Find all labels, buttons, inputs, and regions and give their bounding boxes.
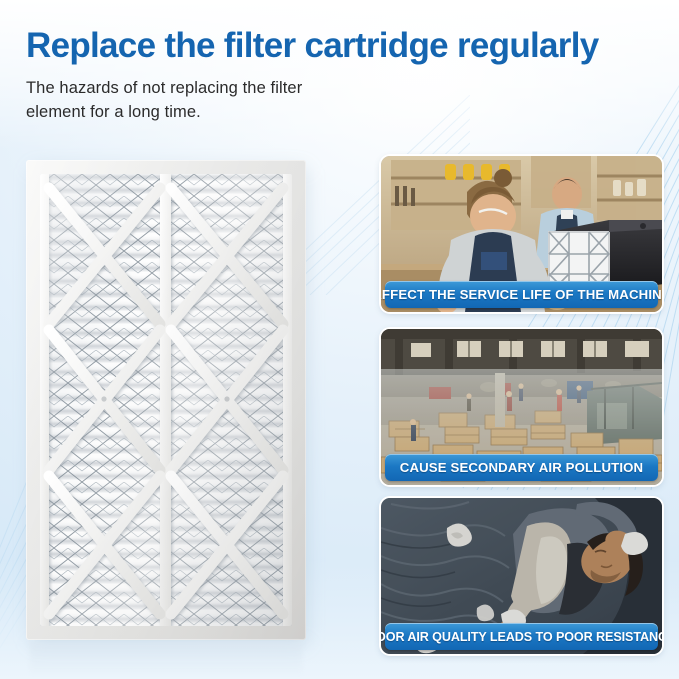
filter-frame [26,160,306,640]
panel-air-pollution[interactable]: CAUSE SECONDARY AIR POLLUTION [381,329,662,485]
header: Replace the filter cartridge regularly T… [26,28,666,125]
panel-service-life[interactable]: AFFECT THE SERVICE LIFE OF THE MACHINE [381,156,662,312]
caption-text: POOR AIR QUALITY LEADS TO POOR RESISTANC… [381,630,662,644]
filter-support-braces [40,174,292,626]
caption-text: AFFECT THE SERVICE LIFE OF THE MACHINE [381,287,662,302]
caption-bar-poor-resistance: POOR AIR QUALITY LEADS TO POOR RESISTANC… [385,623,658,650]
panel-poor-resistance[interactable]: POOR AIR QUALITY LEADS TO POOR RESISTANC… [381,498,662,654]
product-image-filter [26,160,306,640]
page-subtitle: The hazards of not replacing the filter … [26,77,666,125]
caption-bar-service-life: AFFECT THE SERVICE LIFE OF THE MACHINE [385,281,658,308]
caption-bar-air-pollution: CAUSE SECONDARY AIR POLLUTION [385,454,658,481]
filter-media-area [40,174,292,626]
page-title: Replace the filter cartridge regularly [26,28,666,65]
caption-text: CAUSE SECONDARY AIR POLLUTION [400,460,643,475]
product-reflection [30,642,302,676]
infographic-canvas: Replace the filter cartridge regularly T… [0,0,679,679]
